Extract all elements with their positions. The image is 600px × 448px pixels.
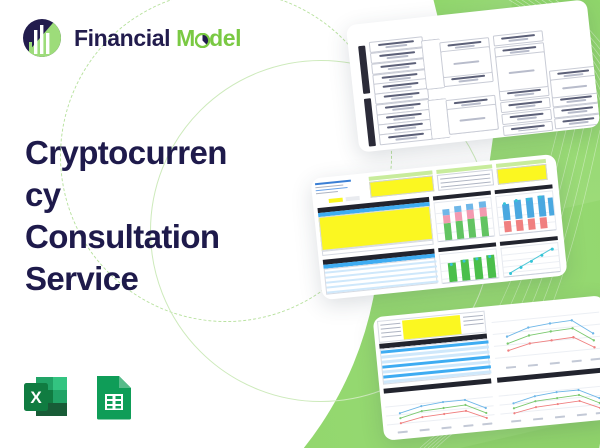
dupont-analysis-card[interactable]	[346, 0, 600, 153]
dashboard-card[interactable]	[310, 154, 567, 300]
line-chart-ebitda	[498, 377, 600, 423]
side-label-income-statement	[358, 45, 370, 93]
brand-logo: Financial Mdel	[20, 16, 241, 60]
pie-chart-circle-icon	[20, 16, 64, 60]
page-title-line-2: cy	[25, 174, 275, 216]
dupont-tree-diagram	[351, 5, 594, 147]
brand-name-part2-post: del	[209, 25, 241, 51]
brand-name-part1: Financial	[74, 25, 170, 51]
tree-connector-box	[495, 51, 549, 92]
page-title-line-4: Service	[25, 258, 275, 300]
bar-line-chart	[439, 248, 500, 284]
svg-text:X: X	[30, 388, 42, 407]
brand-name-part2-pre: M	[176, 25, 195, 51]
page-title: Cryptocurren cy Consultation Service	[25, 132, 275, 300]
dashboard-input-chip[interactable]	[329, 198, 343, 203]
poster-canvas: Financial Mdel Cryptocurren cy Consultat…	[0, 0, 600, 448]
line-chart-gross-margin	[384, 388, 495, 434]
dashboard-title-block	[315, 178, 362, 197]
waterfall-chart	[495, 190, 557, 236]
side-label-balance-sheet	[364, 98, 376, 146]
forecast-card[interactable]	[373, 295, 600, 441]
dashboard-input-chip[interactable]	[346, 196, 360, 201]
tree-connector-box	[446, 104, 499, 135]
tree-connector-box	[440, 46, 493, 78]
filetype-icon-group: X	[22, 372, 138, 422]
line-chart-scenarios	[491, 302, 600, 370]
page-title-line-3: Consultation	[25, 216, 275, 258]
brand-wordmark: Financial Mdel	[74, 25, 241, 52]
stacked-bar-chart	[433, 197, 495, 243]
microsoft-excel-icon[interactable]: X	[22, 372, 70, 422]
google-sheets-icon[interactable]	[90, 372, 138, 422]
line-chart	[500, 242, 561, 278]
brand-o-pie-icon	[195, 25, 209, 52]
page-title-line-1: Cryptocurren	[25, 132, 275, 174]
